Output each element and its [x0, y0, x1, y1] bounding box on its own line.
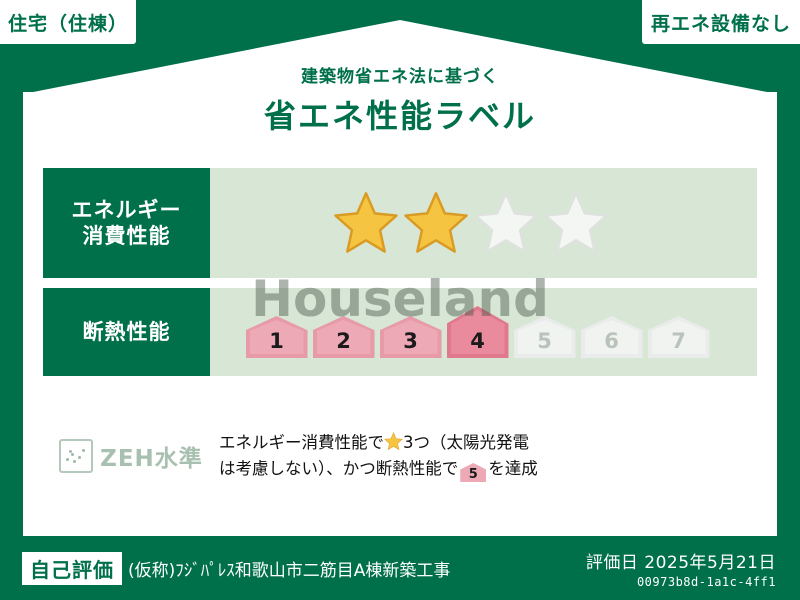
- desc-part1: エネルギー消費性能で: [219, 433, 384, 452]
- footer-right-group: 評価日 2025年5月21日 00973b8d-1a1c-4ff1: [586, 548, 800, 589]
- subtitle-text: 建築物省エネ法に基づく: [0, 62, 800, 87]
- insulation-grade-3: 3: [380, 316, 442, 358]
- zeh-criteria-text: エネルギー消費性能で3つ（太陽光発電は考慮しない）、かつ断熱性能で5を達成: [219, 430, 757, 483]
- title-block: 建築物省エネ法に基づく 省エネ性能ラベル: [0, 62, 800, 137]
- grade-number: 2: [336, 329, 351, 358]
- desc-part2: は考慮しない）、かつ断熱性能で: [219, 459, 458, 478]
- energy-performance-label: 住宅（住棟） 再エネ設備なし 建築物省エネ法に基づく 省エネ性能ラベル Hous…: [0, 0, 800, 600]
- grade-number: 6: [604, 329, 619, 358]
- insulation-performance-value-cell: 1234567: [210, 288, 757, 376]
- insulation-grade-scale: 1234567: [246, 306, 710, 358]
- zeh-house-icon: [59, 439, 93, 473]
- energy-performance-label-cell: エネルギー 消費性能: [43, 168, 210, 278]
- energy-performance-value-cell: [210, 168, 757, 278]
- insulation-grade-2: 2: [313, 316, 375, 358]
- grade-number: 4: [470, 329, 485, 358]
- grade-number: 7: [671, 329, 686, 358]
- desc-part3: を達成: [488, 459, 538, 478]
- insulation-label-line1: 断熱性能: [83, 319, 171, 345]
- desc-star-count: 3つ（太陽光発電: [403, 433, 529, 452]
- grade-number: 3: [403, 329, 418, 358]
- energy-label-line1: エネルギー: [72, 197, 182, 223]
- inline-grade-badge: 5: [460, 463, 486, 482]
- zeh-badge-label: ZEH水準: [100, 439, 203, 473]
- insulation-grade-6: 6: [581, 316, 643, 358]
- star-empty-icon: [473, 190, 539, 256]
- energy-label-line2: 消費性能: [83, 223, 171, 249]
- star-empty-icon: [543, 190, 609, 256]
- insulation-grade-4: 4: [447, 306, 509, 358]
- zeh-description-block: ZEH水準 エネルギー消費性能で3つ（太陽光発電は考慮しない）、かつ断熱性能で5…: [43, 420, 757, 492]
- insulation-performance-row: 断熱性能 1234567: [43, 288, 757, 376]
- insulation-grade-5: 5: [514, 316, 576, 358]
- building-type-tag: 住宅（住棟）: [0, 0, 136, 44]
- renewable-energy-label: 再エネ設備なし: [651, 9, 791, 36]
- footer-left-group: 自己評価 (仮称)ﾌｼﾞﾊﾟﾚｽ和歌山市二筋目A棟新築工事: [0, 552, 586, 585]
- renewable-energy-tag: 再エネ設備なし: [642, 0, 800, 44]
- zeh-badge: ZEH水準: [43, 439, 219, 473]
- building-type-label: 住宅（住棟）: [8, 9, 128, 36]
- inline-star-icon: [384, 432, 403, 451]
- insulation-performance-label-cell: 断熱性能: [43, 288, 210, 376]
- evaluation-id: 00973b8d-1a1c-4ff1: [586, 575, 776, 589]
- evaluation-date: 評価日 2025年5月21日: [586, 548, 776, 573]
- insulation-grade-7: 7: [648, 316, 710, 358]
- self-evaluation-badge: 自己評価: [22, 552, 122, 585]
- page-title: 省エネ性能ラベル: [0, 91, 800, 137]
- star-filled-icon: [403, 190, 469, 256]
- footer-bar: 自己評価 (仮称)ﾌｼﾞﾊﾟﾚｽ和歌山市二筋目A棟新築工事 評価日 2025年5…: [0, 536, 800, 600]
- star-rating: [333, 190, 609, 256]
- project-name-text: (仮称)ﾌｼﾞﾊﾟﾚｽ和歌山市二筋目A棟新築工事: [128, 556, 450, 581]
- energy-performance-row: エネルギー 消費性能: [43, 168, 757, 278]
- insulation-grade-1: 1: [246, 316, 308, 358]
- star-filled-icon: [333, 190, 399, 256]
- grade-number: 5: [537, 329, 552, 358]
- grade-number: 1: [269, 329, 284, 358]
